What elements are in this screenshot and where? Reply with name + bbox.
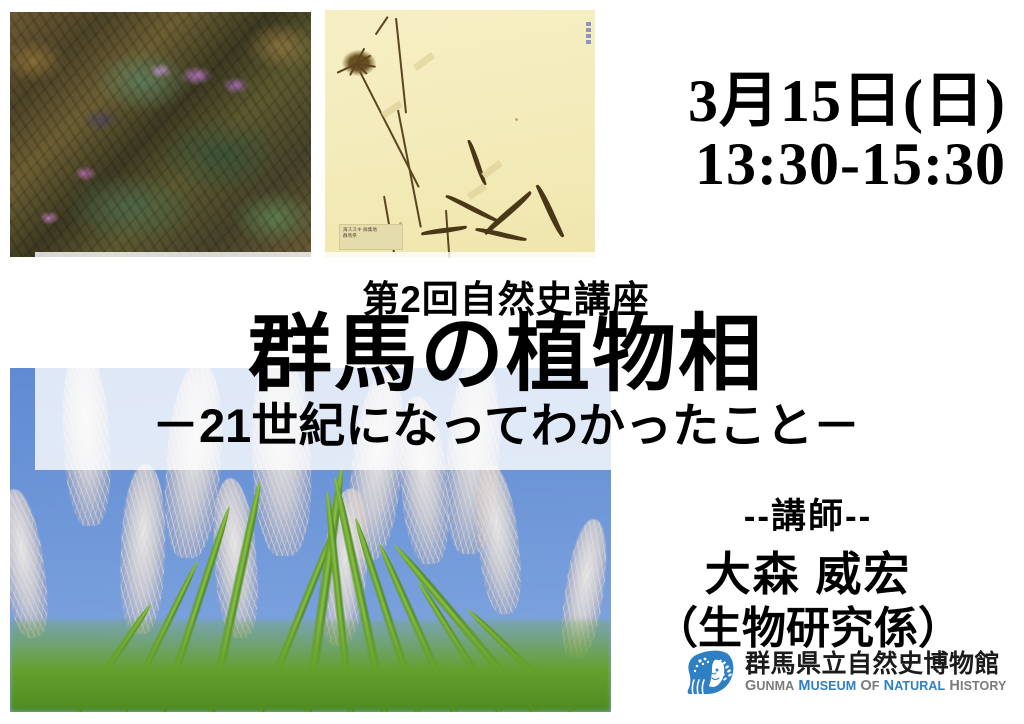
museum-name-jp: 群馬県立自然史博物館 (745, 651, 1006, 677)
event-date: 3月15日(日) (0, 52, 1006, 139)
museum-logo: 群馬県立自然史博物館 GUNMA MUSEUM OF NATURAL HISTO… (684, 650, 1006, 696)
specimen-label: 海ススキ 採集地群馬県 (339, 224, 403, 250)
speaker-department: （生物研究係） (612, 592, 1004, 656)
poster-canvas: 海ススキ 採集地群馬県 3月15日(日) 13:30-15: (0, 0, 1024, 724)
event-time: 13:30-15:30 (0, 130, 1006, 199)
page-title: 群馬の植物相 (0, 312, 1018, 396)
specimen-side-marks (586, 22, 592, 46)
gunma-museum-emblem-icon (684, 650, 736, 696)
speaker-label: --講師-- (612, 488, 1004, 539)
page-subtitle: －21世紀になってわかったこと－ (0, 402, 1018, 449)
museum-name-en: GUNMA MUSEUM OF NATURAL HISTORY (745, 679, 1006, 695)
museum-logo-text: 群馬県立自然史博物館 GUNMA MUSEUM OF NATURAL HISTO… (745, 651, 1006, 695)
